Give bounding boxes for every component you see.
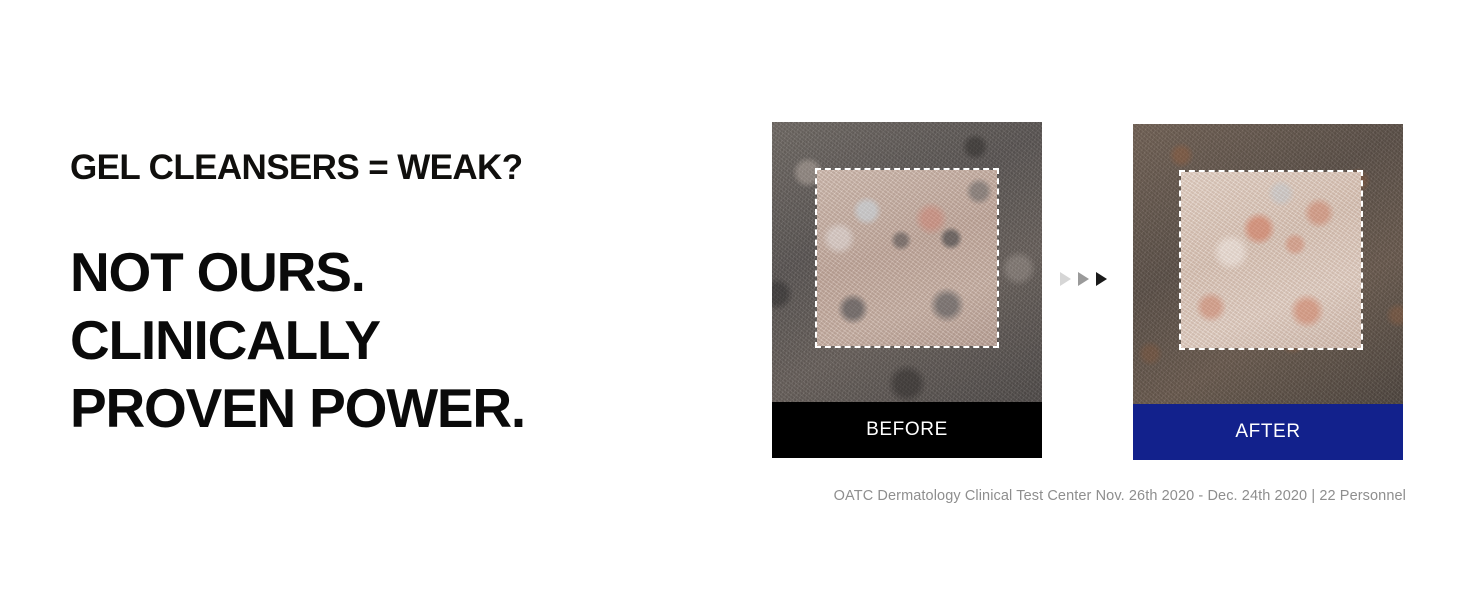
eyebrow-question: GEL CLEANSERS = WEAK?	[70, 146, 690, 190]
after-highlight-box	[1179, 170, 1363, 350]
triangle-right-icon-2	[1078, 272, 1089, 286]
headline-line-3: PROVEN POWER.	[70, 374, 690, 442]
headline-line-1: NOT OURS.	[70, 238, 690, 306]
before-label-bar: BEFORE	[772, 402, 1042, 458]
after-panel: AFTER	[1133, 124, 1403, 460]
after-skin-photo	[1133, 124, 1403, 404]
copy-block: GEL CLEANSERS = WEAK? NOT OURS. CLINICAL…	[70, 146, 690, 442]
before-skin-photo	[772, 122, 1042, 402]
before-label: BEFORE	[866, 419, 948, 441]
triangle-right-icon-1	[1060, 272, 1071, 286]
before-treated-area	[815, 168, 999, 348]
after-label: AFTER	[1235, 421, 1300, 443]
ad-banner: GEL CLEANSERS = WEAK? NOT OURS. CLINICAL…	[0, 0, 1464, 600]
before-after-comparison: BEFORE AFTER OATC Dermatology Clinical T…	[772, 122, 1406, 512]
before-panel: BEFORE	[772, 122, 1042, 458]
after-treated-area	[1179, 170, 1363, 350]
clinical-test-caption: OATC Dermatology Clinical Test Center No…	[772, 488, 1406, 504]
after-label-bar: AFTER	[1133, 404, 1403, 460]
triangle-right-icon-3	[1096, 272, 1107, 286]
before-highlight-box	[815, 168, 999, 348]
progression-arrows	[1060, 268, 1126, 290]
page-title: NOT OURS. CLINICALLY PROVEN POWER.	[70, 238, 690, 442]
headline-line-2: CLINICALLY	[70, 306, 690, 374]
